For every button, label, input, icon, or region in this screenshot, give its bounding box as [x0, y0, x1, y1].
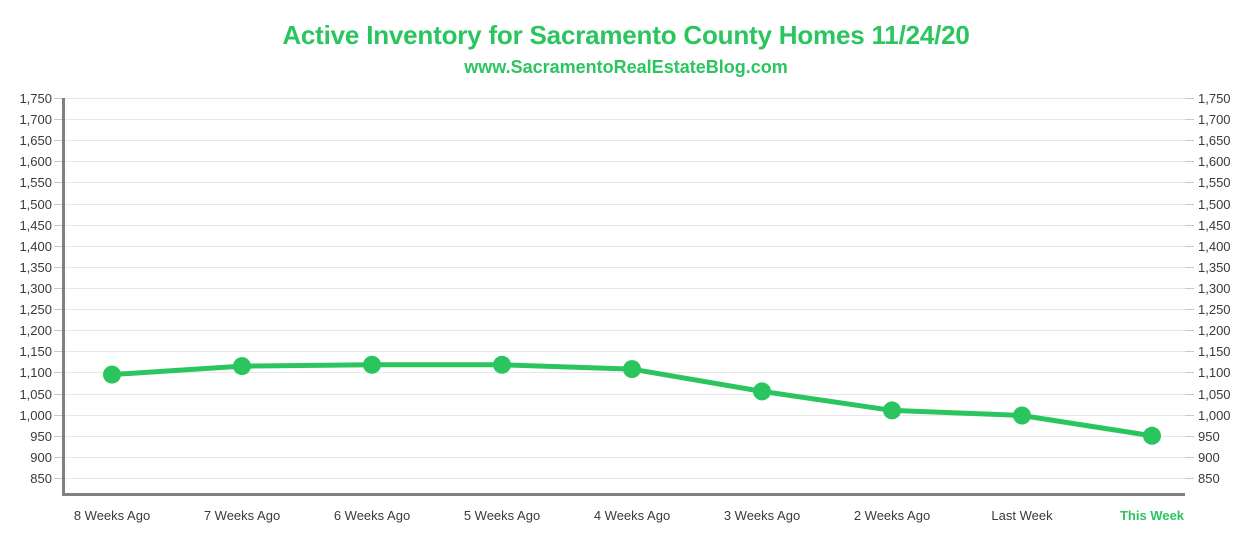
x-axis-tick-label: 8 Weeks Ago	[74, 508, 150, 523]
y-axis-tick-label-right: 1,650	[1198, 134, 1250, 147]
x-axis-tick-label: Last Week	[991, 508, 1052, 523]
y-axis-tick-label-right: 1,700	[1198, 113, 1250, 126]
y-axis-tick-label-left: 1,450	[0, 219, 52, 232]
y-tick-mark-left	[54, 140, 62, 141]
y-axis-tick-label-right: 850	[1198, 472, 1250, 485]
y-axis-tick-label-left: 1,650	[0, 134, 52, 147]
y-tick-mark-left	[54, 119, 62, 120]
y-tick-mark-right	[1185, 246, 1194, 247]
y-axis-tick-label-right: 1,350	[1198, 261, 1250, 274]
y-tick-mark-left	[54, 161, 62, 162]
data-point	[1013, 407, 1031, 425]
line-series	[62, 98, 1185, 496]
y-tick-mark-left	[54, 225, 62, 226]
y-tick-mark-right	[1185, 436, 1194, 437]
x-axis-tick-label: 4 Weeks Ago	[594, 508, 670, 523]
plot-area	[62, 98, 1185, 496]
y-axis-tick-label-right: 1,500	[1198, 198, 1250, 211]
y-tick-mark-left	[54, 288, 62, 289]
y-axis-tick-label-right: 1,200	[1198, 324, 1250, 337]
y-tick-mark-right	[1185, 267, 1194, 268]
y-axis-tick-label-left: 850	[0, 472, 52, 485]
y-axis-tick-label-left: 1,000	[0, 409, 52, 422]
y-tick-mark-right	[1185, 140, 1194, 141]
y-tick-mark-left	[54, 436, 62, 437]
y-tick-mark-left	[54, 372, 62, 373]
y-axis-tick-label-right: 900	[1198, 451, 1250, 464]
y-tick-mark-left	[54, 351, 62, 352]
y-tick-mark-right	[1185, 415, 1194, 416]
y-axis-tick-label-left: 1,350	[0, 261, 52, 274]
y-axis-tick-label-right: 1,000	[1198, 409, 1250, 422]
y-tick-mark-right	[1185, 372, 1194, 373]
x-axis-tick-label: 5 Weeks Ago	[464, 508, 540, 523]
y-axis-tick-label-left: 1,500	[0, 198, 52, 211]
y-axis-tick-label-right: 1,050	[1198, 388, 1250, 401]
x-axis-tick-label: 2 Weeks Ago	[854, 508, 930, 523]
y-axis-tick-label-left: 1,300	[0, 282, 52, 295]
y-tick-mark-right	[1185, 351, 1194, 352]
y-axis-tick-label-left: 1,600	[0, 155, 52, 168]
y-tick-mark-left	[54, 98, 62, 99]
x-axis-tick-label: This Week	[1120, 508, 1184, 523]
data-point	[493, 356, 511, 374]
y-tick-mark-right	[1185, 478, 1194, 479]
y-tick-mark-right	[1185, 119, 1194, 120]
y-tick-mark-right	[1185, 225, 1194, 226]
y-axis-tick-label-left: 900	[0, 451, 52, 464]
y-axis-tick-label-left: 1,250	[0, 303, 52, 316]
y-axis-tick-label-left: 1,400	[0, 240, 52, 253]
y-axis-tick-label-right: 1,400	[1198, 240, 1250, 253]
y-axis-tick-label-left: 1,150	[0, 345, 52, 358]
y-tick-mark-left	[54, 267, 62, 268]
y-axis-tick-label-left: 1,050	[0, 388, 52, 401]
y-tick-mark-right	[1185, 182, 1194, 183]
y-tick-mark-left	[54, 478, 62, 479]
y-tick-mark-left	[54, 415, 62, 416]
page-title: Active Inventory for Sacramento County H…	[0, 18, 1252, 52]
y-tick-mark-left	[54, 246, 62, 247]
x-axis-tick-label: 7 Weeks Ago	[204, 508, 280, 523]
chart-subtitle: www.SacramentoRealEstateBlog.com	[0, 54, 1252, 80]
y-tick-mark-left	[54, 309, 62, 310]
y-axis-tick-label-right: 1,750	[1198, 92, 1250, 105]
y-tick-mark-right	[1185, 161, 1194, 162]
y-axis-tick-label-left: 1,100	[0, 366, 52, 379]
y-axis-tick-label-right: 1,300	[1198, 282, 1250, 295]
data-point	[753, 382, 771, 400]
y-axis-tick-label-left: 1,550	[0, 176, 52, 189]
chart-container: Active Inventory for Sacramento County H…	[0, 0, 1252, 558]
data-point	[233, 357, 251, 375]
y-tick-mark-left	[54, 330, 62, 331]
y-tick-mark-left	[54, 182, 62, 183]
data-point	[623, 360, 641, 378]
y-tick-mark-left	[54, 204, 62, 205]
data-point	[363, 356, 381, 374]
y-tick-mark-right	[1185, 98, 1194, 99]
y-tick-mark-right	[1185, 330, 1194, 331]
y-tick-mark-right	[1185, 457, 1194, 458]
data-point	[1143, 427, 1161, 445]
y-tick-mark-right	[1185, 288, 1194, 289]
title-block: Active Inventory for Sacramento County H…	[0, 18, 1252, 80]
y-axis-tick-label-right: 1,150	[1198, 345, 1250, 358]
y-axis-tick-label-left: 1,700	[0, 113, 52, 126]
y-axis-tick-label-right: 1,450	[1198, 219, 1250, 232]
y-axis-tick-label-right: 1,100	[1198, 366, 1250, 379]
y-tick-mark-right	[1185, 309, 1194, 310]
y-tick-mark-right	[1185, 394, 1194, 395]
y-axis-tick-label-right: 1,550	[1198, 176, 1250, 189]
y-tick-mark-right	[1185, 204, 1194, 205]
y-tick-mark-left	[54, 394, 62, 395]
y-axis-tick-label-right: 1,600	[1198, 155, 1250, 168]
data-point	[883, 401, 901, 419]
y-tick-mark-left	[54, 457, 62, 458]
y-axis-tick-label-right: 950	[1198, 430, 1250, 443]
y-axis-tick-label-left: 1,200	[0, 324, 52, 337]
data-point	[103, 366, 121, 384]
y-axis-tick-label-right: 1,250	[1198, 303, 1250, 316]
y-axis-tick-label-left: 950	[0, 430, 52, 443]
x-axis-tick-label: 6 Weeks Ago	[334, 508, 410, 523]
x-axis-tick-label: 3 Weeks Ago	[724, 508, 800, 523]
y-axis-tick-label-left: 1,750	[0, 92, 52, 105]
